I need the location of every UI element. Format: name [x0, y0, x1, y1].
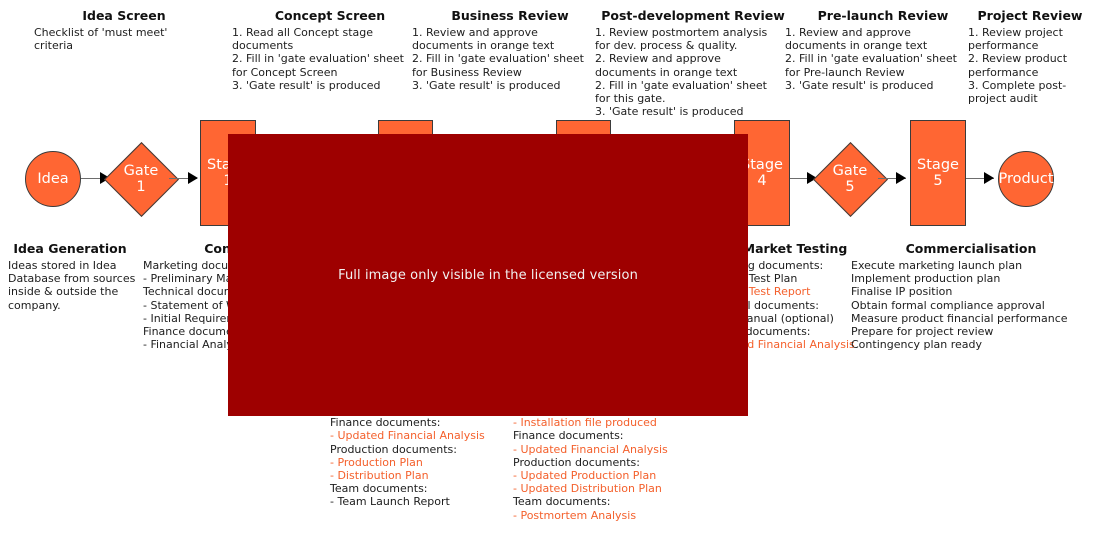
gate-line: for dev. process & quality.: [595, 39, 791, 52]
stage-body: Execute marketing launch plan Implement …: [851, 259, 1091, 351]
gate-body: 1. Review and approve documents in orang…: [412, 26, 608, 92]
gate-title: Business Review: [412, 8, 608, 23]
flow-node-label: Idea: [37, 171, 68, 187]
gate-line: 3. 'Gate result' is produced: [232, 79, 428, 92]
flow-node-label: Gate 1: [113, 163, 169, 195]
stage-block-commercialisation: Commercialisation Execute marketing laun…: [851, 241, 1091, 351]
document-line: - Production Plan: [330, 456, 520, 469]
document-list-body: - User Help files - Installation file pr…: [513, 403, 713, 522]
gate-line: performance: [968, 66, 1092, 79]
document-line: - Updated Production Plan: [513, 469, 713, 482]
document-line: Production documents:: [330, 443, 520, 456]
gate-node-number: 5: [845, 179, 854, 195]
document-line: - Updated Financial Analysis: [513, 443, 713, 456]
stage-line: Finalise IP position: [851, 285, 1091, 298]
gate-line: 1. Review and approve: [412, 26, 608, 39]
document-line: - Team Launch Report: [330, 495, 520, 508]
document-line: Production documents:: [513, 456, 713, 469]
stage-line: Prepare for project review: [851, 325, 1091, 338]
gate-line: 3. 'Gate result' is produced: [595, 105, 791, 118]
stage-line: inside & outside the: [8, 285, 132, 298]
gate-line: documents: [232, 39, 428, 52]
gate-line: 3. 'Gate result' is produced: [412, 79, 608, 92]
document-line: - Installation file produced: [513, 416, 713, 429]
licensed-version-overlay: Full image only visible in the licensed …: [228, 134, 748, 416]
gate-line: 2. Fill in 'gate evaluation' sheet: [595, 79, 791, 92]
flow-node-gate-5[interactable]: Gate 5: [822, 151, 878, 207]
stage-line: Measure product financial performance: [851, 312, 1091, 325]
arrow-head-icon: [984, 172, 994, 184]
arrow-head-icon: [188, 172, 198, 184]
gate-line: 1. Review postmortem analysis: [595, 26, 791, 39]
stage-body: Ideas stored in Idea Database from sourc…: [8, 259, 132, 312]
overlay-message: Full image only visible in the licensed …: [338, 268, 638, 283]
gate-line: 2. Fill in 'gate evaluation' sheet: [785, 52, 981, 65]
flow-node-label: Stage 5: [917, 157, 959, 189]
gate-line: for Business Review: [412, 66, 608, 79]
gate-line: for Concept Screen: [232, 66, 428, 79]
stage-line: Obtain formal compliance approval: [851, 299, 1091, 312]
document-list-stage-4: Management Plan) Finance documents: - Up…: [330, 403, 520, 509]
gate-title: Pre-launch Review: [785, 8, 981, 23]
gate-line: 2. Fill in 'gate evaluation' sheet: [412, 52, 608, 65]
gate-body: Checklist of 'must meet' criteria: [34, 26, 214, 52]
stage-node-word: Stage: [917, 157, 959, 173]
gate-line: documents in orange text: [785, 39, 981, 52]
document-list-body: Management Plan) Finance documents: - Up…: [330, 403, 520, 509]
gate-title: Post-development Review: [595, 8, 791, 23]
document-line: - Distribution Plan: [330, 469, 520, 482]
gate-body: 1. Review and approve documents in orang…: [785, 26, 981, 92]
gate-title: Project Review: [968, 8, 1092, 23]
gate-block-post-development-review: Post-development Review 1. Review postmo…: [595, 8, 791, 118]
stage-title: Idea Generation: [8, 241, 132, 256]
gate-title: Concept Screen: [232, 8, 428, 23]
gate-line: 1. Read all Concept stage: [232, 26, 428, 39]
gate-title: Idea Screen: [34, 8, 214, 23]
stage-block-idea-generation: Idea Generation Ideas stored in Idea Dat…: [8, 241, 132, 312]
gate-line: 2. Review and approve: [595, 52, 791, 65]
gate-node-word: Gate: [124, 163, 159, 179]
stage-line: Contingency plan ready: [851, 338, 1091, 351]
gate-line: Checklist of 'must meet': [34, 26, 214, 39]
document-line: Finance documents:: [513, 429, 713, 442]
gate-node-number: 1: [136, 179, 145, 195]
gate-line: project audit: [968, 92, 1092, 105]
document-line: Finance documents:: [330, 416, 520, 429]
document-line: - Updated Financial Analysis: [330, 429, 520, 442]
stage-node-number: 4: [757, 173, 766, 189]
stage-line: Database from sources: [8, 272, 132, 285]
gate-body: 1. Review project performance 2. Review …: [968, 26, 1092, 105]
flow-node-gate-1[interactable]: Gate 1: [113, 151, 169, 207]
gate-line: 2. Review product: [968, 52, 1092, 65]
document-line: - Updated Distribution Plan: [513, 482, 713, 495]
gate-block-business-review: Business Review 1. Review and approve do…: [412, 8, 608, 92]
gate-line: criteria: [34, 39, 214, 52]
gate-block-project-review: Project Review 1. Review project perform…: [968, 8, 1092, 105]
flow-node-stage-5[interactable]: Stage 5: [910, 120, 966, 226]
stage-title: Commercialisation: [851, 241, 1091, 256]
gate-body: 1. Read all Concept stage documents 2. F…: [232, 26, 428, 92]
gate-line: 3. Complete post-: [968, 79, 1092, 92]
stage-node-number: 5: [933, 173, 942, 189]
gate-line: for Pre-launch Review: [785, 66, 981, 79]
gate-block-idea-screen: Idea Screen Checklist of 'must meet' cri…: [34, 8, 214, 52]
gate-line: 3. 'Gate result' is produced: [785, 79, 981, 92]
flow-node-label: Product: [998, 171, 1053, 187]
stage-line: Ideas stored in Idea: [8, 259, 132, 272]
gate-line: 1. Review and approve: [785, 26, 981, 39]
document-line: Team documents:: [330, 482, 520, 495]
gate-line: performance: [968, 39, 1092, 52]
stage-gate-diagram: Idea Screen Checklist of 'must meet' cri…: [0, 0, 1097, 537]
gate-node-word: Gate: [833, 163, 868, 179]
stage-line: company.: [8, 299, 132, 312]
gate-line: 1. Review project: [968, 26, 1092, 39]
flow-node-idea[interactable]: Idea: [25, 151, 81, 207]
document-list-stage-5: - User Help files - Installation file pr…: [513, 403, 713, 522]
arrow-head-icon: [896, 172, 906, 184]
stage-line: Implement production plan: [851, 272, 1091, 285]
gate-line: documents in orange text: [595, 66, 791, 79]
flow-node-product[interactable]: Product: [998, 151, 1054, 207]
gate-block-pre-launch-review: Pre-launch Review 1. Review and approve …: [785, 8, 981, 92]
stage-line: Execute marketing launch plan: [851, 259, 1091, 272]
gate-line: 2. Fill in 'gate evaluation' sheet: [232, 52, 428, 65]
gate-block-concept-screen: Concept Screen 1. Read all Concept stage…: [232, 8, 428, 92]
gate-body: 1. Review postmortem analysis for dev. p…: [595, 26, 791, 118]
flow-node-label: Gate 5: [822, 163, 878, 195]
document-line: Team documents:: [513, 495, 713, 508]
document-line: - Postmortem Analysis: [513, 509, 713, 522]
gate-line: documents in orange text: [412, 39, 608, 52]
gate-line: for this gate.: [595, 92, 791, 105]
